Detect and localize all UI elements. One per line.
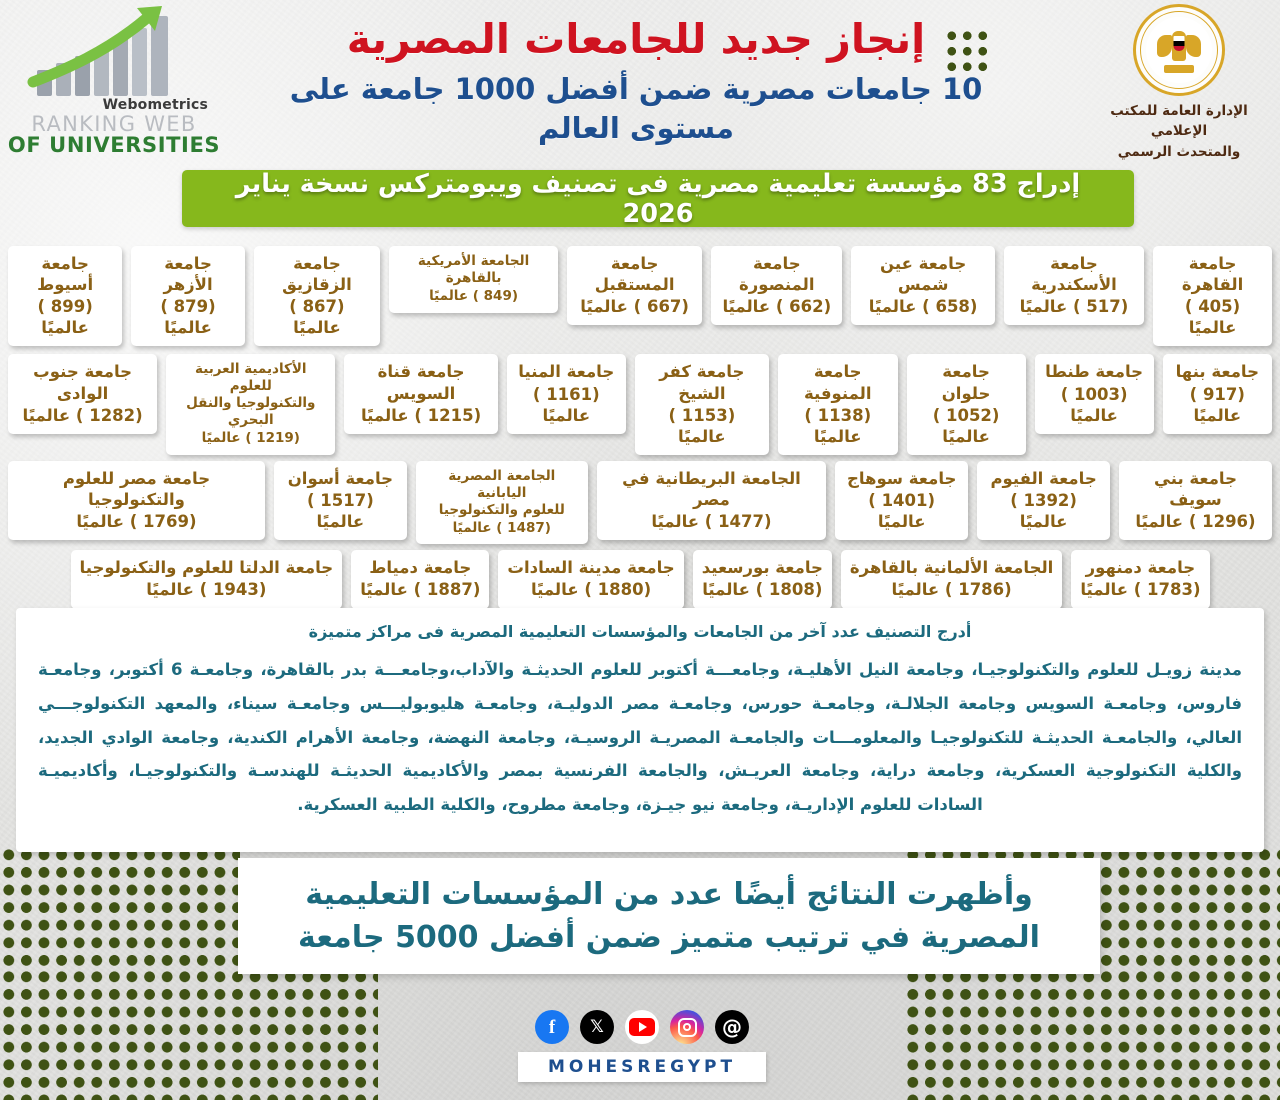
university-rank: (1052 ) عالميًا [916,405,1017,447]
handle-plate: MOHESREGYPT [518,1052,766,1082]
university-name: جامعة أسيوط [17,253,113,295]
university-card[interactable]: جامعة كفر الشيخ(1153 ) عالميًا [635,354,769,454]
university-rank: (899 ) عالميًا [17,296,113,338]
university-name: جامعة الأسكندرية [1013,253,1135,295]
dot-pattern-bottom-left-upper [0,846,240,968]
university-rank: (667 ) عالميًا [576,296,693,317]
university-name: جامعة المنيا [516,361,617,382]
threads-icon[interactable]: @ [715,1010,749,1044]
university-card[interactable]: جامعة الأسكندرية(517 ) عالميًا [1004,246,1144,325]
university-rank: (1161 ) عالميًا [516,384,617,426]
social-links-row: f 𝕏 @ [535,1010,749,1044]
university-rank: (917 ) عالميًا [1172,384,1263,426]
university-card-row: جامعة بنها(917 ) عالميًاجامعة طنطا(1003 … [0,354,1280,454]
university-name: جامعة مدينة السادات [507,557,674,578]
university-rank: (1808 ) عالميًا [702,579,823,600]
university-rank: (1282 ) عالميًا [17,405,148,426]
university-rank: (1943 ) عالميًا [80,579,334,600]
university-card[interactable]: جامعة سوهاج(1401 ) عالميًا [835,461,968,540]
dot-grid-icon [944,28,988,74]
university-card[interactable]: الجامعة البريطانية في مصر(1477 ) عالميًا [597,461,827,540]
university-rank: (1769 ) عالميًا [17,511,256,532]
university-name: الأكاديمية العربية للعلوم والتكنولوجيا و… [175,361,326,429]
university-name: جامعة كفر الشيخ [644,361,760,403]
dot-pattern-bottom-right-lower [904,968,1280,1100]
university-card[interactable]: جامعة بني سويف(1296 ) عالميًا [1119,461,1272,540]
university-rank: (1517 ) عالميًا [283,490,398,532]
page-subtitle: 10 جامعات مصرية ضمن أفضل 1000 جامعة على … [236,70,1036,148]
university-rank: (1138 ) عالميًا [787,405,889,447]
university-card[interactable]: الجامعة المصرية اليابانية للعلوم والتكنو… [416,461,588,545]
university-rank: (1003 ) عالميًا [1044,384,1145,426]
university-card[interactable]: جامعة جنوب الوادى(1282 ) عالميًا [8,354,157,433]
webometrics-logo: Webometrics RANKING WEB OF UNIVERSITIES [6,4,222,164]
university-rank: (405 ) عالميًا [1162,296,1263,338]
university-name: جامعة طنطا [1044,361,1145,382]
university-name: جامعة الأزهر [140,253,236,295]
page-title: إنجاز جديد للجامعات المصرية [236,14,1036,64]
header: Webometrics RANKING WEB OF UNIVERSITIES … [0,0,1280,168]
university-name: جامعة القاهرة [1162,253,1263,295]
footer: f 𝕏 @ MOHESREGYPT [378,1010,906,1100]
university-card[interactable]: جامعة دمياط(1887 ) عالميًا [351,550,489,608]
university-rank: (1219 ) عالميًا [175,430,326,447]
university-card[interactable]: جامعة دمنهور(1783 ) عالميًا [1071,550,1209,608]
bottom-banner-text: وأظهرت النتائج أيضًا عدد من المؤسسات الت… [238,873,1100,960]
green-banner-text: إدراج 83 مؤسسة تعليمية مصرية فى تصنيف وي… [182,169,1134,229]
university-card[interactable]: جامعة عين شمس(658 ) عالميًا [851,246,994,325]
university-name: جامعة المستقبل [576,253,693,295]
ministry-logo: الإدارة العامة للمكتب الإعلامي والمتحدث … [1084,4,1274,162]
university-rank: (879 ) عالميًا [140,296,236,338]
university-card[interactable]: الجامعة الأمريكية بالقاهرة(849 ) عالميًا [389,246,558,313]
university-rank: (1880 ) عالميًا [507,579,674,600]
university-card[interactable]: جامعة بنها(917 ) عالميًا [1163,354,1272,433]
university-card[interactable]: جامعة أسوان(1517 ) عالميًا [274,461,407,540]
university-card-row: جامعة القاهرة(405 ) عالميًاجامعة الأسكند… [0,246,1280,346]
university-rank: (1477 ) عالميًا [606,511,818,532]
university-name: الجامعة المصرية اليابانية للعلوم والتكنو… [425,468,579,519]
university-card[interactable]: جامعة مدينة السادات(1880 ) عالميًا [498,550,683,608]
title-block: إنجاز جديد للجامعات المصرية 10 جامعات مص… [236,14,1036,148]
additional-institutions-panel: أدرج التصنيف عدد آخر من الجامعات والمؤسس… [16,608,1264,852]
university-name: جامعة الدلتا للعلوم والتكنولوجيا [80,557,334,578]
university-name: الجامعة البريطانية في مصر [606,468,818,510]
dot-pattern-bottom-left-lower [0,968,378,1100]
green-highlight-banner: إدراج 83 مؤسسة تعليمية مصرية فى تصنيف وي… [182,170,1134,227]
university-card[interactable]: جامعة الدلتا للعلوم والتكنولوجيا(1943 ) … [71,550,343,608]
bottom-summary-banner: وأظهرت النتائج أيضًا عدد من المؤسسات الت… [238,858,1100,974]
university-card-row: جامعة دمنهور(1783 ) عالميًاالجامعة الألم… [0,550,1280,608]
youtube-icon[interactable] [625,1010,659,1044]
university-card[interactable]: جامعة حلوان(1052 ) عالميًا [907,354,1026,454]
university-rank: (517 ) عالميًا [1013,296,1135,317]
university-cards: جامعة القاهرة(405 ) عالميًاجامعة الأسكند… [0,246,1280,615]
webometrics-chart-icon [19,4,209,96]
university-rank: (1487 ) عالميًا [425,520,579,537]
university-card[interactable]: جامعة المنوفية(1138 ) عالميًا [778,354,898,454]
university-name: جامعة عين شمس [860,253,985,295]
university-card[interactable]: الأكاديمية العربية للعلوم والتكنولوجيا و… [166,354,335,454]
ministry-caption: الإدارة العامة للمكتب الإعلامي والمتحدث … [1084,101,1274,162]
egypt-eagle-crest-icon [1133,4,1225,96]
university-rank: (1401 ) عالميًا [844,490,959,532]
university-rank: (1786 ) عالميًا [850,579,1053,600]
infographic-page: Webometrics RANKING WEB OF UNIVERSITIES … [0,0,1280,1100]
university-card[interactable]: الجامعة الألمانية بالقاهرة(1786 ) عالميً… [841,550,1062,608]
university-name: جامعة دمياط [360,557,480,578]
university-name: جامعة بني سويف [1128,468,1263,510]
university-rank: (1392 ) عالميًا [986,490,1101,532]
university-name: الجامعة الألمانية بالقاهرة [850,557,1053,578]
university-name: جامعة دمنهور [1080,557,1200,578]
university-rank: (867 ) عالميًا [263,296,371,338]
university-name: جامعة المنوفية [787,361,889,403]
university-card[interactable]: جامعة قناة السويس(1215 ) عالميًا [344,354,497,433]
paragraph-body: مدينة زويـل للعلوم والتكنولوجيـا، وجامعة… [38,653,1242,822]
university-rank: (662 ) عالميًا [720,296,833,317]
social-handle: MOHESREGYPT [548,1057,736,1077]
university-rank: (849 ) عالميًا [398,288,549,305]
university-name: جامعة بنها [1172,361,1263,382]
university-name: جامعة مصر للعلوم والتكنولوجيا [17,468,256,510]
university-card[interactable]: جامعة المنصورة(662 ) عالميًا [711,246,842,325]
university-rank: (1215 ) عالميًا [353,405,488,426]
university-rank: (1783 ) عالميًا [1080,579,1200,600]
instagram-icon[interactable] [670,1010,704,1044]
university-rank: (658 ) عالميًا [860,296,985,317]
university-card-row: جامعة بني سويف(1296 ) عالميًاجامعة الفيو… [0,461,1280,545]
university-card[interactable]: جامعة أسيوط(899 ) عالميًا [8,246,122,346]
university-name: جامعة سوهاج [844,468,959,489]
university-name: جامعة حلوان [916,361,1017,403]
university-rank: (1153 ) عالميًا [644,405,760,447]
university-card[interactable]: جامعة الزقازيق(867 ) عالميًا [254,246,380,346]
university-rank: (1296 ) عالميًا [1128,511,1263,532]
university-card[interactable]: جامعة طنطا(1003 ) عالميًا [1035,354,1154,433]
university-name: جامعة قناة السويس [353,361,488,403]
x-twitter-icon[interactable]: 𝕏 [580,1010,614,1044]
university-name: جامعة جنوب الوادى [17,361,148,403]
university-name: الجامعة الأمريكية بالقاهرة [398,253,549,287]
university-card[interactable]: جامعة القاهرة(405 ) عالميًا [1153,246,1272,346]
university-name: جامعة المنصورة [720,253,833,295]
university-name: جامعة الزقازيق [263,253,371,295]
university-name: جامعة أسوان [283,468,398,489]
university-rank: (1887 ) عالميًا [360,579,480,600]
university-card[interactable]: جامعة الأزهر(879 ) عالميًا [131,246,245,346]
facebook-icon[interactable]: f [535,1010,569,1044]
university-card[interactable]: جامعة بورسعيد(1808 ) عالميًا [693,550,832,608]
university-name: جامعة بورسعيد [702,557,823,578]
university-card[interactable]: جامعة مصر للعلوم والتكنولوجيا(1769 ) عال… [8,461,265,540]
paragraph-heading: أدرج التصنيف عدد آخر من الجامعات والمؤسس… [38,622,1242,641]
university-name: جامعة الفيوم [986,468,1101,489]
university-card[interactable]: جامعة المنيا(1161 ) عالميًا [507,354,626,433]
university-card[interactable]: جامعة الفيوم(1392 ) عالميًا [977,461,1110,540]
university-card[interactable]: جامعة المستقبل(667 ) عالميًا [567,246,702,325]
webometrics-label-3: OF UNIVERSITIES [8,133,220,157]
webometrics-label-1: Webometrics [103,97,208,113]
